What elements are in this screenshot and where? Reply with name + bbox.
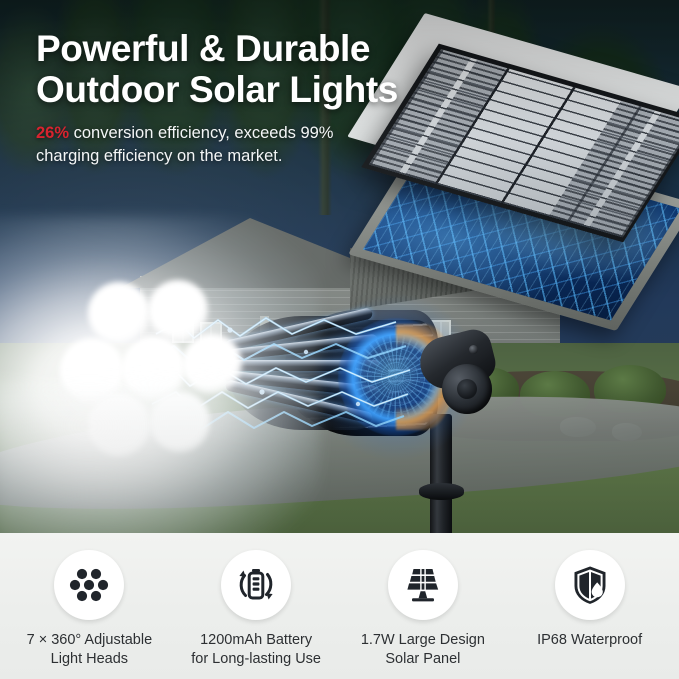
feature-label: 1.7W Large Design Solar Panel — [361, 631, 485, 670]
adjustable-joint — [414, 330, 498, 426]
rechargeable-battery-icon-glyph — [233, 562, 279, 608]
subheadline-text: conversion efficiency, exceeds 99% charg… — [36, 124, 333, 165]
headline-block: Powerful & Durable Outdoor Solar Lights … — [36, 28, 466, 169]
solar-panel-icon — [388, 550, 458, 620]
feature-item-waterproof: IP68 Waterproof — [506, 550, 673, 650]
pole-collar — [419, 483, 464, 500]
hero-scene: Powerful & Durable Outdoor Solar Lights … — [0, 0, 679, 533]
page-title: Powerful & Durable Outdoor Solar Lights — [36, 28, 466, 111]
headline-line-1: Powerful & Durable — [36, 28, 370, 69]
rechargeable-battery-icon — [221, 550, 291, 620]
waterproof-shield-icon — [555, 550, 625, 620]
joint-knuckle — [442, 364, 492, 414]
feature-item-led-heads: 7 × 360° Adjustable Light Heads — [6, 550, 173, 670]
led-cluster-icon-glyph — [67, 563, 111, 607]
led-cluster-icon — [54, 550, 124, 620]
feature-label: 7 × 360° Adjustable Light Heads — [27, 631, 153, 670]
feature-label: 1200mAh Battery for Long-lasting Use — [191, 631, 321, 670]
waterproof-shield-icon-glyph — [567, 562, 613, 608]
joint-screw — [469, 345, 478, 354]
feature-label: IP68 Waterproof — [537, 631, 642, 650]
solar-panel-icon-glyph — [400, 562, 446, 608]
efficiency-accent: 26% — [36, 124, 69, 142]
headline-line-2: Outdoor Solar Lights — [36, 69, 398, 110]
subheadline: 26% conversion efficiency, exceeds 99% c… — [36, 122, 366, 169]
feature-item-battery: 1200mAh Battery for Long-lasting Use — [173, 550, 340, 670]
feature-item-solar-panel: 1.7W Large Design Solar Panel — [340, 550, 507, 670]
product-marketing-image: Powerful & Durable Outdoor Solar Lights … — [0, 0, 679, 679]
feature-bar: 7 × 360° Adjustable Light Heads — [0, 533, 679, 679]
